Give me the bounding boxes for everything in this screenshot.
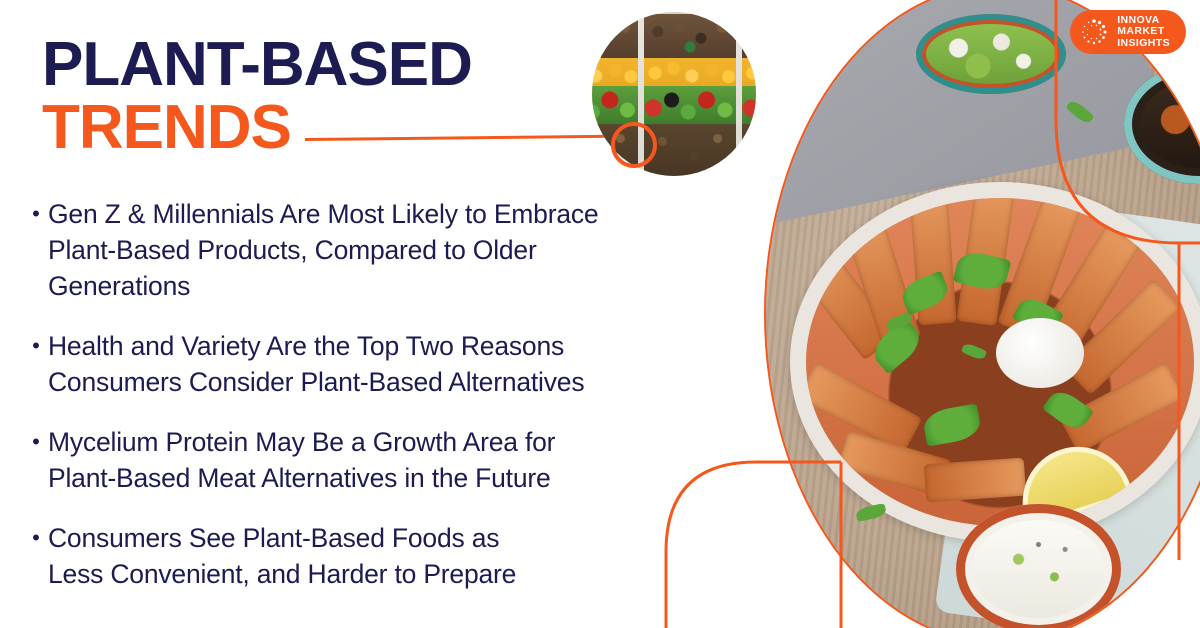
plate-scene — [766, 0, 1200, 628]
mealprep-container-right — [742, 12, 756, 176]
main-plate — [790, 182, 1200, 542]
dotted-circle-icon — [1080, 18, 1108, 46]
sour-cream-dollop — [996, 318, 1084, 388]
bullet-text: Gen Z & Millennials Are Most Likely to E… — [48, 196, 598, 304]
bullet-text: Health and Variety Are the Top Two Reaso… — [48, 328, 584, 400]
list-item: • Health and Variety Are the Top Two Rea… — [24, 328, 744, 400]
mealprep-container-center — [644, 12, 736, 176]
oval-food-photo — [764, 0, 1200, 628]
orange-ring-marker-icon — [611, 122, 657, 168]
list-item: • Consumers See Plant-Based Foods as Les… — [24, 520, 744, 592]
logo-wordmark: INNOVA MARKET INSIGHTS — [1117, 15, 1170, 50]
list-item: • Mycelium Protein May Be a Growth Area … — [24, 424, 744, 496]
title-line-plant-based: PLANT-BASED — [42, 36, 472, 95]
sweet-potato-wedges — [806, 198, 1194, 526]
bullet-text: Mycelium Protein May Be a Growth Area fo… — [48, 424, 555, 496]
list-item: • Gen Z & Millennials Are Most Likely to… — [24, 196, 744, 304]
white-sauce-bowl — [956, 504, 1121, 628]
bullet-dot-icon: • — [24, 520, 48, 555]
bullet-dot-icon: • — [24, 328, 48, 363]
innova-market-insights-logo[interactable]: INNOVA MARKET INSIGHTS — [1070, 10, 1186, 54]
bullet-text: Consumers See Plant-Based Foods as Less … — [48, 520, 516, 592]
poster-canvas: PLANT-BASED TRENDS • Gen Z & Millennials… — [0, 0, 1200, 628]
trend-bullet-list: • Gen Z & Millennials Are Most Likely to… — [24, 196, 744, 616]
logo-line-3: INSIGHTS — [1117, 38, 1170, 50]
bullet-dot-icon: • — [24, 424, 48, 459]
bullet-dot-icon: • — [24, 196, 48, 231]
title-line-trends: TRENDS — [42, 99, 472, 158]
guacamole-bowl — [916, 14, 1066, 94]
